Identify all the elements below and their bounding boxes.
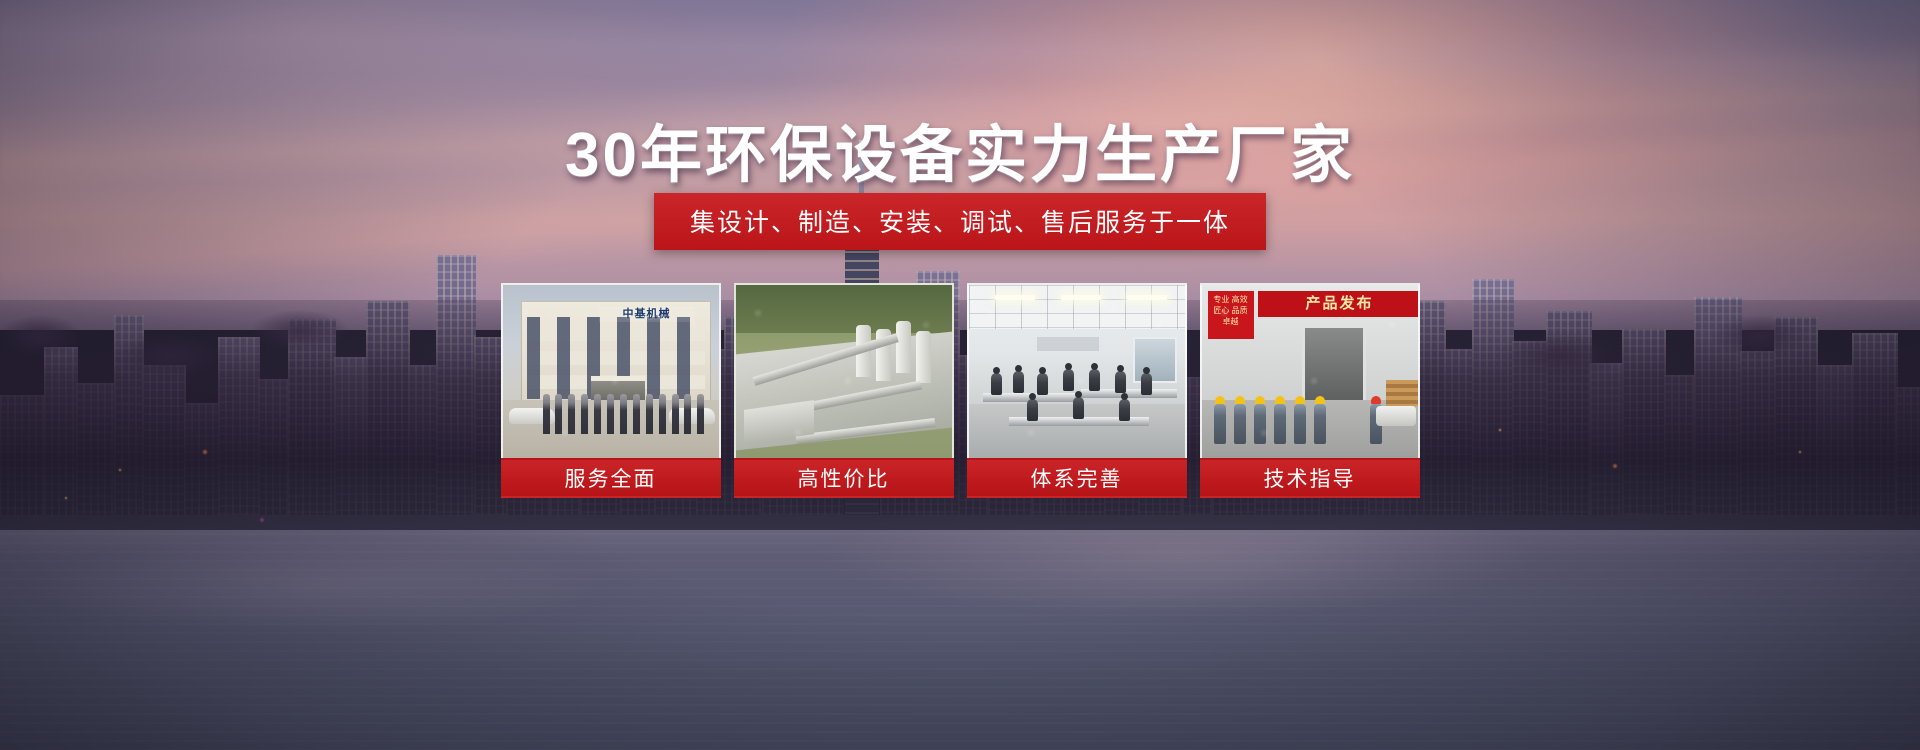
feature-card-2-caption: 高性价比 bbox=[734, 458, 954, 498]
factory-banner-text: 产品发布 bbox=[1258, 291, 1420, 317]
feature-card-4-photo: 专业 高效 匠心 品质卓越 产品发布 bbox=[1200, 283, 1420, 458]
banner-subtitle: 集设计、制造、安装、调试、售后服务于一体 bbox=[654, 193, 1266, 250]
feature-card-1[interactable]: 中基机械 服务全面 bbox=[501, 283, 721, 498]
feature-card-1-photo: 中基机械 bbox=[501, 283, 721, 458]
building-sign-text: 中基机械 bbox=[599, 307, 695, 322]
feature-card-1-caption: 服务全面 bbox=[501, 458, 721, 498]
feature-card-list: 中基机械 服务全面 bbox=[0, 283, 1920, 498]
banner-subtitle-wrap: 集设计、制造、安装、调试、售后服务于一体 bbox=[0, 193, 1920, 250]
banner-content: 30年环保设备实力生产厂家 集设计、制造、安装、调试、售后服务于一体 中基机械 bbox=[0, 0, 1920, 750]
side-banner-text: 专业 高效 匠心 品质卓越 bbox=[1208, 291, 1254, 339]
feature-card-2[interactable]: 高性价比 bbox=[734, 283, 954, 498]
banner-headline: 30年环保设备实力生产厂家 bbox=[0, 104, 1920, 194]
feature-card-3-caption: 体系完善 bbox=[967, 458, 1187, 498]
feature-card-4-caption: 技术指导 bbox=[1200, 458, 1420, 498]
feature-card-3-photo bbox=[967, 283, 1187, 458]
hero-banner: 30年环保设备实力生产厂家 集设计、制造、安装、调试、售后服务于一体 中基机械 bbox=[0, 0, 1920, 750]
feature-card-4[interactable]: 专业 高效 匠心 品质卓越 产品发布 技术指导 bbox=[1200, 283, 1420, 498]
feature-card-2-photo bbox=[734, 283, 954, 458]
feature-card-3[interactable]: 体系完善 bbox=[967, 283, 1187, 498]
